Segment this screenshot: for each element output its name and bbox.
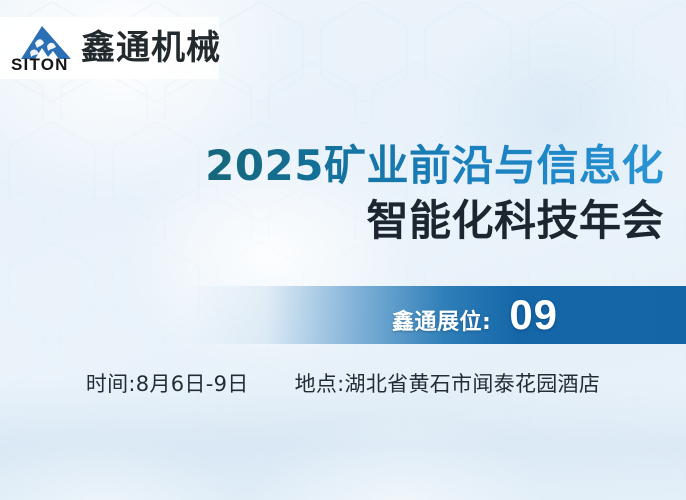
booth-number-banner: 鑫通展位: 09 [186, 286, 686, 344]
booth-label: 鑫通展位: [392, 304, 491, 336]
booth-number-content: 鑫通展位: 09 [392, 291, 558, 339]
logo-chinese-name: 鑫通机械 [81, 31, 221, 65]
event-poster: SITON 鑫通机械 2025矿业前沿与信息化 智能化科技年会 鑫通展位: 09… [0, 0, 686, 500]
event-title-line-1: 2025矿业前沿与信息化 [0, 143, 664, 188]
logo-latin-name: SITON [11, 56, 69, 73]
background-glow-bottom-left [0, 400, 290, 500]
background-glow-bottom [190, 380, 610, 500]
event-time: 时间:8月6日-9日 [86, 368, 249, 398]
booth-number-value: 09 [509, 291, 558, 339]
event-info-row: 时间:8月6日-9日 地点:湖北省黄石市闻泰花园酒店 [0, 368, 686, 398]
event-location: 地点:湖北省黄石市闻泰花园酒店 [295, 368, 601, 398]
event-title-line-2: 智能化科技年会 [0, 198, 664, 243]
background-bottom-band [0, 380, 686, 500]
company-logo: SITON 鑫通机械 [0, 17, 219, 79]
siton-mountain-logo-icon: SITON [9, 21, 75, 75]
